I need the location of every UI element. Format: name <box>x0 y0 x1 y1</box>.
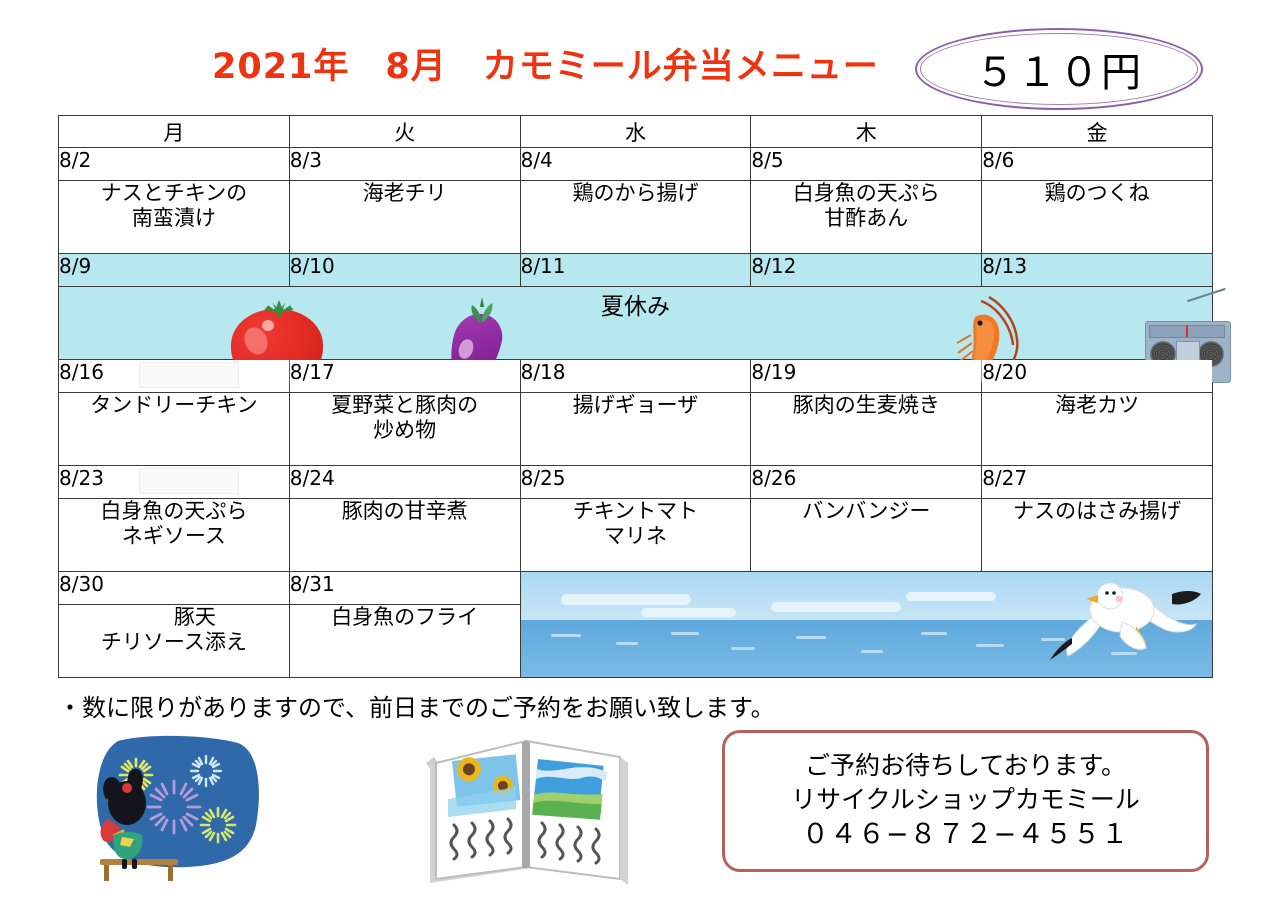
cloud-shape <box>561 594 691 605</box>
menu-cell: 鶏のつくね <box>982 181 1213 254</box>
cloud-shape <box>641 608 736 617</box>
week-4-menu-row: 白身魚の天ぷらネギソース 豚肉の甘辛煮 チキントマトマリネ バンバンジー ナスの… <box>59 499 1213 572</box>
date-text: 8/16 <box>59 360 104 384</box>
date-cell: 8/24 <box>289 466 520 499</box>
menu-cell: 夏野菜と豚肉の炒め物 <box>289 393 520 466</box>
menu-cell: ナスのはさみ揚げ <box>982 499 1213 572</box>
wave-shape <box>731 647 755 650</box>
date-cell: 8/31 <box>289 572 520 605</box>
menu-cell: バンバンジー <box>751 499 982 572</box>
summer-holiday-banner: 夏休み <box>59 287 1213 360</box>
open-picture-book-illustration <box>412 727 640 895</box>
week-2-date-row: 8/9 8/10 8/11 8/12 8/13 <box>59 254 1213 287</box>
wave-shape <box>551 634 581 637</box>
week-3-date-row: 8/16 8/17 8/18 8/19 8/20 <box>59 360 1213 393</box>
date-cell: 8/20 <box>982 360 1213 393</box>
blank-patch <box>139 362 239 388</box>
menu-cell: 白身魚の天ぷら甘酢あん <box>751 181 982 254</box>
menu-cell: 海老チリ <box>289 181 520 254</box>
week-2-holiday-row: 夏休み <box>59 287 1213 360</box>
cloud-shape <box>771 602 901 612</box>
page-title: 2021年 8月 カモミール弁当メニュー <box>212 38 879 89</box>
seagull-icon <box>1022 578 1202 664</box>
date-cell: 8/10 <box>289 254 520 287</box>
summer-holiday-label: 夏休み <box>601 294 670 320</box>
date-text: 8/23 <box>59 466 104 490</box>
week-5-date-row: 8/30 8/31 <box>59 572 1213 605</box>
date-cell: 8/30 <box>59 572 290 605</box>
menu-cell: 揚げギョーザ <box>520 393 751 466</box>
week-4-date-row: 8/23 8/24 8/25 8/26 8/27 <box>59 466 1213 499</box>
date-cell: 8/13 <box>982 254 1213 287</box>
week-1-menu-row: ナスとチキンの南蛮漬け 海老チリ 鶏のから揚げ 白身魚の天ぷら甘酢あん 鶏のつく… <box>59 181 1213 254</box>
date-cell: 8/5 <box>751 148 982 181</box>
menu-cell: チキントマトマリネ <box>520 499 751 572</box>
date-cell: 8/26 <box>751 466 982 499</box>
date-cell: 8/17 <box>289 360 520 393</box>
date-cell: 8/27 <box>982 466 1213 499</box>
day-header-mon: 月 <box>59 116 290 148</box>
title-bar: 2021年 8月 カモミール弁当メニュー ５１０円 <box>0 0 1280 112</box>
cloud-shape <box>906 592 996 601</box>
week-3-menu-row: タンドリーチキン 夏野菜と豚肉の炒め物 揚げギョーザ 豚肉の生麦焼き 海老カツ <box>59 393 1213 466</box>
day-header-fri: 金 <box>982 116 1213 148</box>
eggplant-calyx-icon <box>465 297 499 323</box>
menu-cell: タンドリーチキン <box>59 393 290 466</box>
day-header-thu: 木 <box>751 116 982 148</box>
date-cell: 8/9 <box>59 254 290 287</box>
date-cell: 8/25 <box>520 466 751 499</box>
date-cell: 8/19 <box>751 360 982 393</box>
wave-shape <box>671 632 699 635</box>
ocean-seagull-image <box>520 572 1212 678</box>
week-1-date-row: 8/2 8/3 8/4 8/5 8/6 <box>59 148 1213 181</box>
contact-greeting: ご予約お待ちしております。 <box>805 750 1126 782</box>
date-cell: 8/2 <box>59 148 290 181</box>
price-label: ５１０円 <box>915 28 1203 110</box>
tomato-leaf-icon <box>260 299 298 319</box>
contact-phone[interactable]: ０４６−８７２−４５５１ <box>802 818 1129 853</box>
date-cell: 8/6 <box>982 148 1213 181</box>
menu-cell: 白身魚の天ぷらネギソース <box>59 499 290 572</box>
wave-shape <box>921 632 947 635</box>
blank-patch <box>139 468 239 494</box>
contact-box: ご予約お待ちしております。 リサイクルショップカモミール ０４６−８７２−４５５… <box>722 730 1209 872</box>
reservation-note: ・数に限りがありますので、前日までのご予約をお願い致します。 <box>58 688 775 723</box>
wave-shape <box>796 636 826 639</box>
menu-cell: 豚天チリソース添え <box>59 605 290 678</box>
date-cell: 8/12 <box>751 254 982 287</box>
menu-cell: 海老カツ <box>982 393 1213 466</box>
date-cell: 8/4 <box>520 148 751 181</box>
menu-cell: 白身魚のフライ <box>289 605 520 678</box>
girl-watching-fireworks-illustration <box>78 733 268 885</box>
date-cell: 8/23 <box>59 466 290 499</box>
menu-cell: 鶏のから揚げ <box>520 181 751 254</box>
wave-shape <box>616 642 638 645</box>
date-cell: 8/16 <box>59 360 290 393</box>
date-cell: 8/3 <box>289 148 520 181</box>
contact-shop-name: リサイクルショップカモミール <box>791 784 1140 816</box>
calendar-header-row: 月 火 水 木 金 <box>59 116 1213 148</box>
day-header-wed: 水 <box>520 116 751 148</box>
menu-calendar: 月 火 水 木 金 8/2 8/3 8/4 8/5 8/6 ナスとチキンの南蛮漬… <box>58 115 1213 678</box>
date-cell: 8/18 <box>520 360 751 393</box>
menu-cell: 豚肉の生麦焼き <box>751 393 982 466</box>
date-cell: 8/11 <box>520 254 751 287</box>
menu-cell: ナスとチキンの南蛮漬け <box>59 181 290 254</box>
day-header-tue: 火 <box>289 116 520 148</box>
wave-shape <box>976 644 1004 647</box>
menu-cell: 豚肉の甘辛煮 <box>289 499 520 572</box>
wave-shape <box>861 650 883 653</box>
